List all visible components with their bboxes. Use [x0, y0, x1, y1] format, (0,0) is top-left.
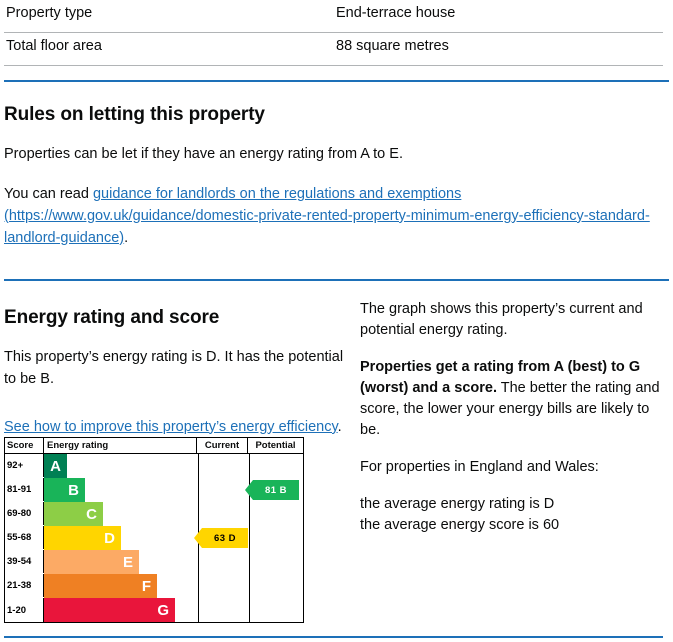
epc-current-column: 63 D: [199, 454, 250, 622]
landlord-guidance-link[interactable]: guidance for landlords on the regulation…: [4, 186, 650, 246]
epc-band-bar: G: [44, 598, 175, 622]
bottom-divider: [4, 636, 663, 638]
rules-paragraph-2-prefix: You can read: [4, 186, 93, 202]
epc-band-bar: A: [44, 454, 67, 478]
improve-efficiency-paragraph: See how to improve this property’s energ…: [4, 417, 344, 439]
average-score-text: the average energy score is 60: [360, 517, 559, 533]
epc-band-score: 55-68: [5, 526, 44, 549]
epc-graph-header: Score Energy rating Current Potential: [5, 438, 303, 454]
epc-band-letter: B: [68, 483, 79, 498]
epc-band-row: 81-91B: [5, 478, 198, 502]
rules-heading: Rules on letting this property: [4, 104, 673, 126]
epc-band-row: 21-38F: [5, 574, 198, 598]
epc-header-potential: Potential: [248, 438, 303, 453]
rating-explanation: Properties get a rating from A (best) to…: [360, 357, 660, 441]
epc-band-row: 69-80C: [5, 502, 198, 526]
property-type-label: Property type: [4, 0, 334, 33]
section-divider: [4, 80, 669, 82]
epc-band-bar: F: [44, 574, 157, 598]
property-type-value: End-terrace house: [334, 0, 663, 33]
epc-rating-graph: Score Energy rating Current Potential 92…: [4, 437, 304, 623]
improve-efficiency-link[interactable]: See how to improve this property’s energ…: [4, 419, 338, 435]
total-floor-area-value: 88 square metres: [334, 33, 663, 66]
epc-band-row: 55-68D: [5, 526, 198, 550]
rules-on-letting-section: Rules on letting this property Propertie…: [0, 104, 673, 249]
energy-heading: Energy rating and score: [4, 307, 344, 329]
epc-band-score: 39-54: [5, 550, 44, 573]
epc-band-score: 92+: [5, 454, 44, 477]
property-details-table: Property type End-terrace house Total fl…: [4, 0, 663, 66]
epc-band-score: 69-80: [5, 502, 44, 525]
epc-band-score: 21-38: [5, 574, 44, 597]
epc-current-arrow: 63 D: [202, 528, 248, 548]
epc-header-energy-rating: Energy rating: [44, 438, 197, 453]
rules-paragraph-2-suffix: .: [124, 230, 128, 246]
epc-band-score: 1-20: [5, 598, 44, 622]
epc-potential-arrow: 81 B: [253, 480, 299, 500]
epc-band-bar: C: [44, 502, 103, 526]
epc-header-current: Current: [197, 438, 248, 453]
epc-band-letter: D: [104, 531, 115, 546]
rules-paragraph-1: Properties can be let if they have an en…: [4, 144, 673, 166]
section-divider-2: [4, 279, 669, 281]
epc-band-letter: F: [142, 579, 151, 594]
epc-band-row: 39-54E: [5, 550, 198, 574]
epc-potential-column: 81 B: [250, 454, 303, 622]
table-row: Total floor area 88 square metres: [4, 33, 663, 66]
epc-band-list: 92+A81-91B69-80C55-68D39-54E21-38F1-20G: [5, 454, 199, 622]
energy-left-column: Energy rating and score This property’s …: [4, 299, 344, 438]
epc-band-score: 81-91: [5, 478, 44, 501]
energy-right-column: The graph shows this property’s current …: [360, 299, 660, 536]
england-wales-intro: For properties in England and Wales:: [360, 457, 660, 478]
total-floor-area-label: Total floor area: [4, 33, 334, 66]
epc-current-arrow-label: 63 D: [214, 533, 236, 544]
average-rating-text: the average energy rating is D: [360, 496, 554, 512]
epc-band-row: 92+A: [5, 454, 198, 478]
epc-header-score: Score: [5, 438, 44, 453]
epc-potential-arrow-label: 81 B: [265, 485, 287, 496]
graph-description: The graph shows this property’s current …: [360, 299, 660, 341]
averages-block: the average energy rating is D the avera…: [360, 494, 660, 536]
epc-graph-body: 92+A81-91B69-80C55-68D39-54E21-38F1-20G …: [5, 454, 303, 622]
epc-band-letter: G: [157, 603, 169, 618]
epc-band-letter: C: [86, 507, 97, 522]
epc-band-bar: D: [44, 526, 121, 550]
epc-certificate-page: Property type End-terrace house Total fl…: [0, 0, 673, 642]
energy-paragraph-1: This property’s energy rating is D. It h…: [4, 347, 344, 391]
epc-band-bar: B: [44, 478, 85, 502]
table-row: Property type End-terrace house: [4, 0, 663, 33]
epc-band-letter: E: [123, 555, 133, 570]
epc-band-bar: E: [44, 550, 139, 574]
improve-link-suffix: .: [338, 419, 342, 435]
epc-band-row: 1-20G: [5, 598, 198, 622]
epc-band-letter: A: [50, 459, 61, 474]
rules-paragraph-2: You can read guidance for landlords on t…: [4, 184, 673, 249]
